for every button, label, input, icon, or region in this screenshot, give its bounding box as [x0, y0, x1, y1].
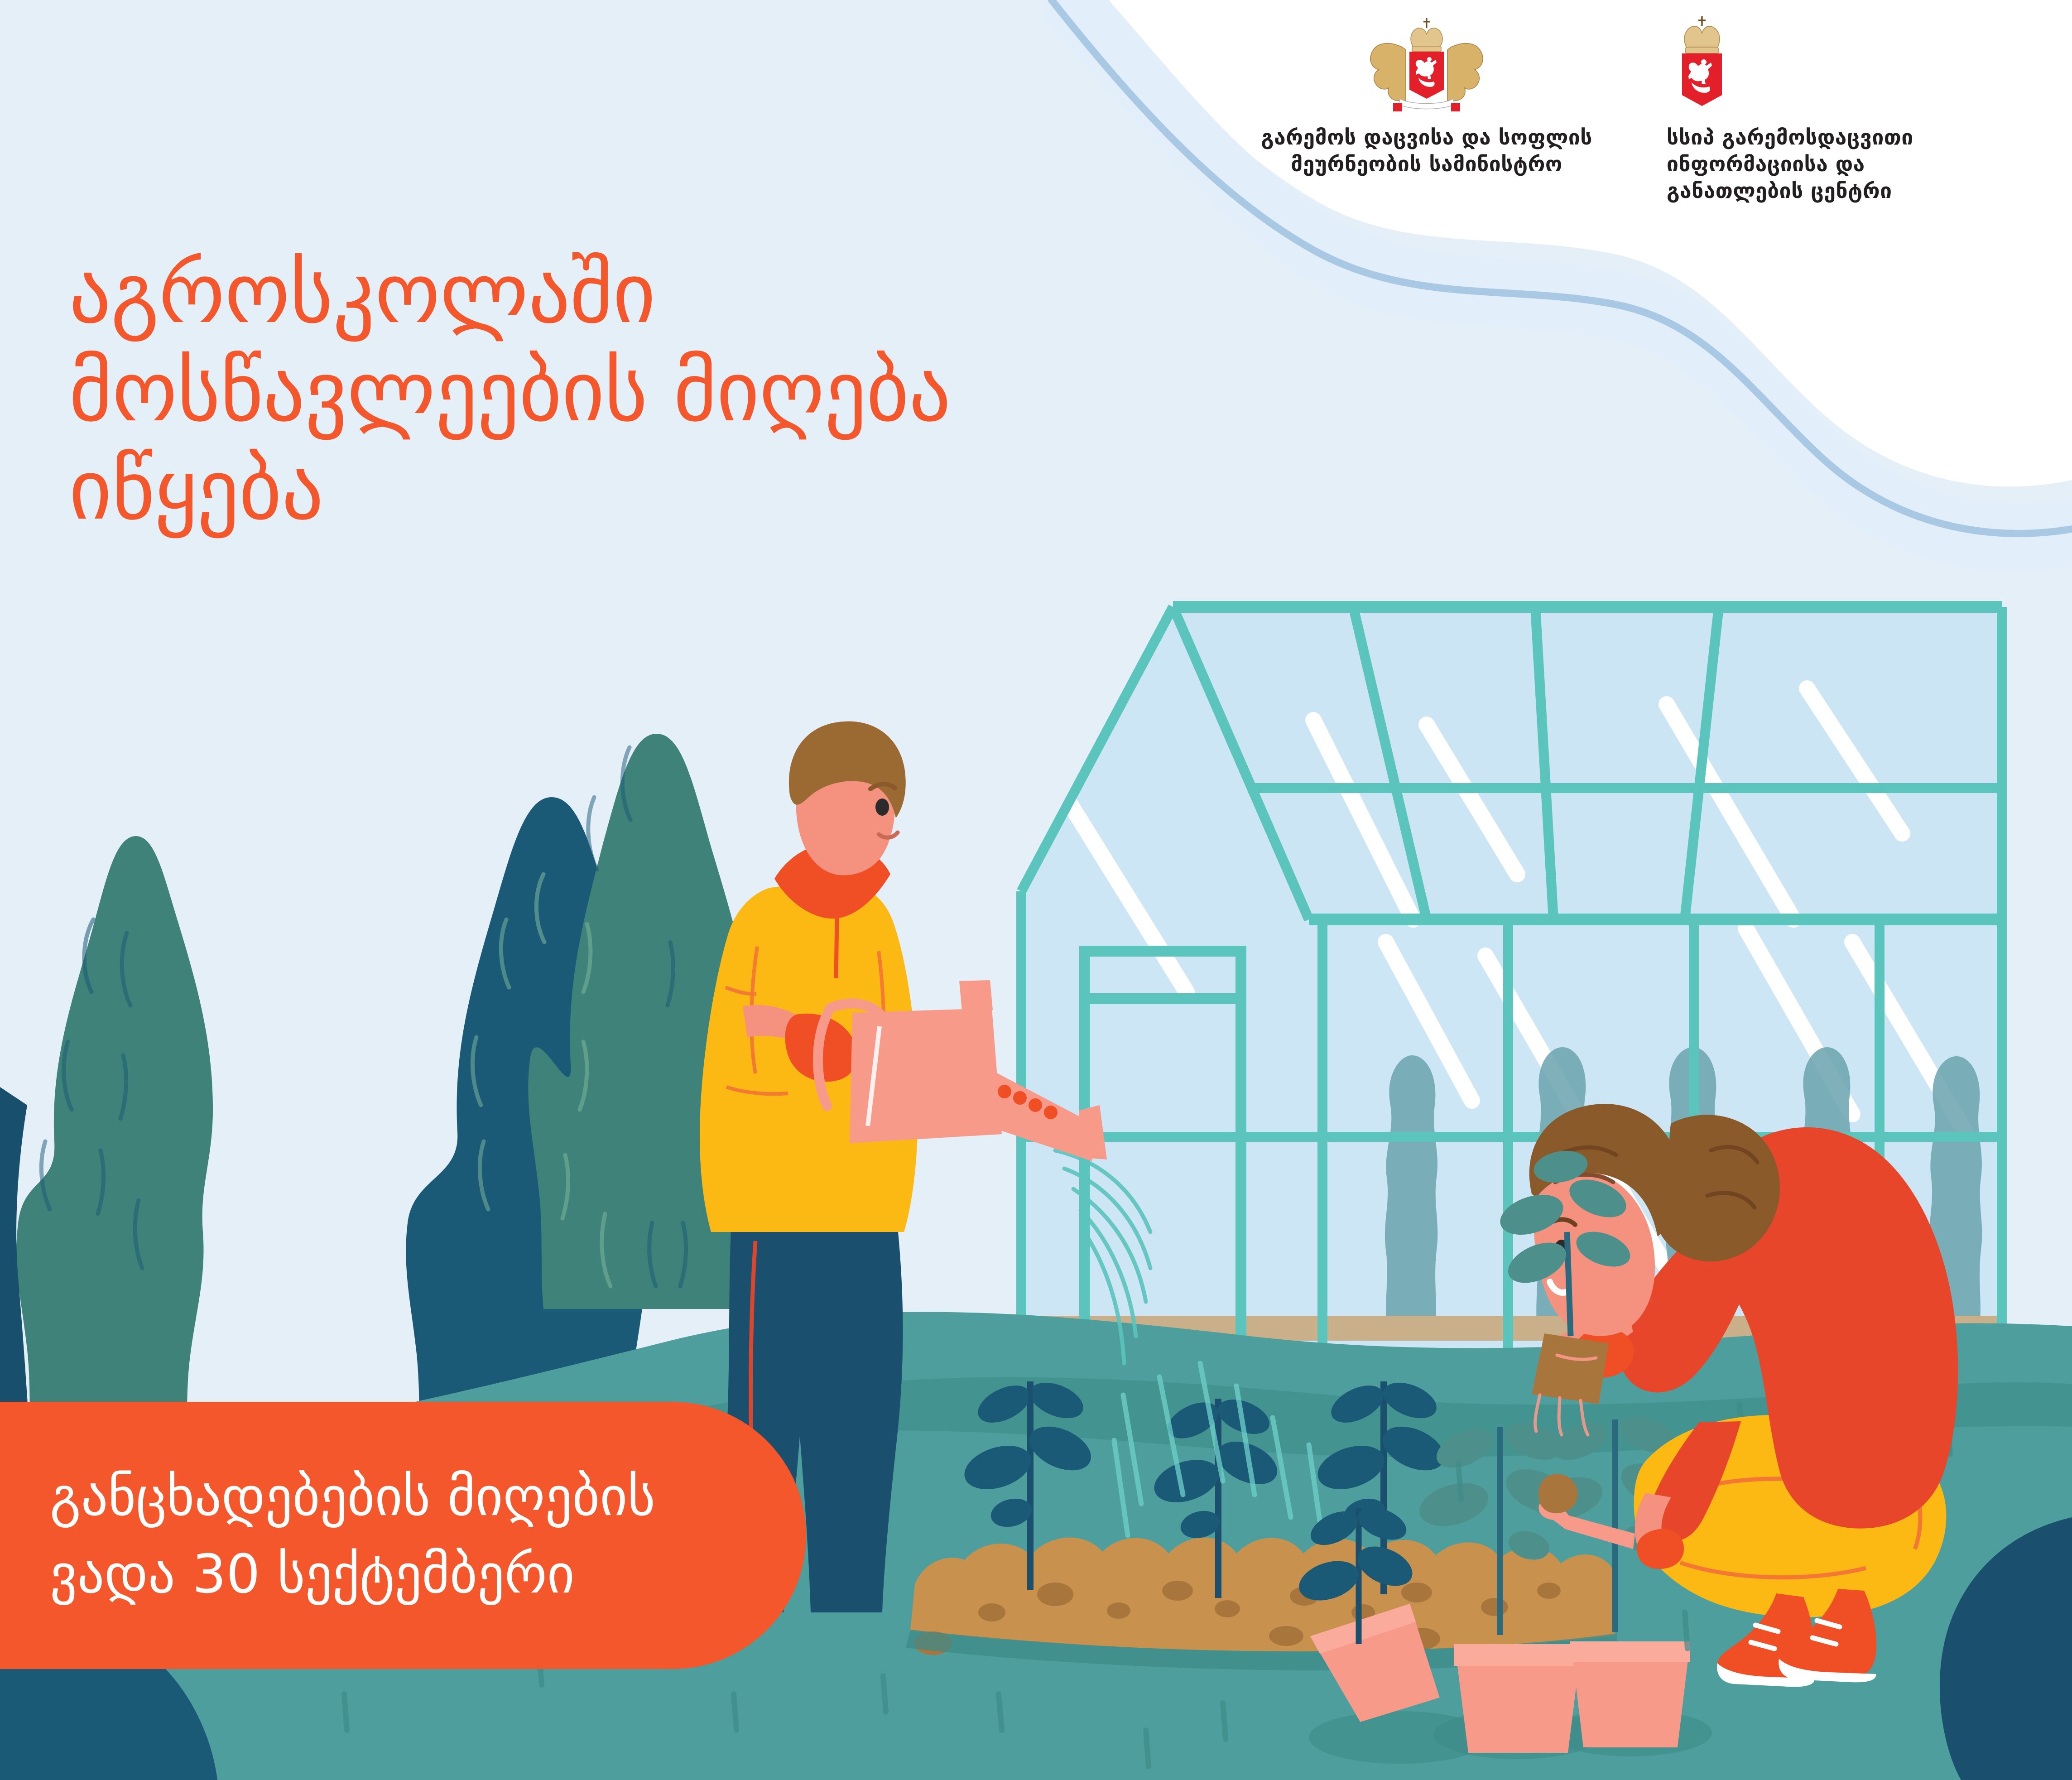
header-logos: გარემოს დაცვისა და სოფლის მეურნეობის სამ… [1250, 14, 2029, 222]
logo-center-caption: სსიპ გარემოსდაცვითი ინფორმაციისა და განა… [1667, 124, 1913, 204]
page-title: აგროსკოლაში მოსწავლეების მიღება იწყება [69, 245, 1246, 539]
soil-mound [910, 1538, 1615, 1651]
georgia-coat-of-arms-full-icon [1359, 14, 1495, 118]
can-cap [959, 980, 993, 1011]
man-eye [875, 799, 889, 816]
title-line-1: აგროსკოლაში [69, 245, 1246, 343]
georgia-coat-of-arms-shield-icon [1667, 14, 1735, 118]
banner-line-2: ვადა 30 სექტემბერი [50, 1535, 806, 1613]
title-line-3: იწყება [69, 441, 1246, 539]
banner-line-1: განცხადებების მიღების [50, 1458, 806, 1535]
deadline-banner: განცხადებების მიღების ვადა 30 სექტემბერი [0, 1402, 806, 1669]
logo-center: სსიპ გარემოსდაცვითი ინფორმაციისა და განა… [1658, 14, 2002, 204]
greenhouse-roof [1173, 607, 2002, 919]
title-line-2: მოსწავლეების მიღება [69, 343, 1246, 441]
poster-canvas: გარემოს დაცვისა და სოფლის მეურნეობის სამ… [0, 0, 2072, 1780]
logo-ministry-caption: გარემოს დაცვისა და სოფლის მეურნეობის სამ… [1261, 124, 1592, 178]
logo-ministry: გარემოს დაცვისა და სოფლის მეურნეობის სამ… [1250, 14, 1603, 178]
root-ball [1532, 1333, 1609, 1404]
